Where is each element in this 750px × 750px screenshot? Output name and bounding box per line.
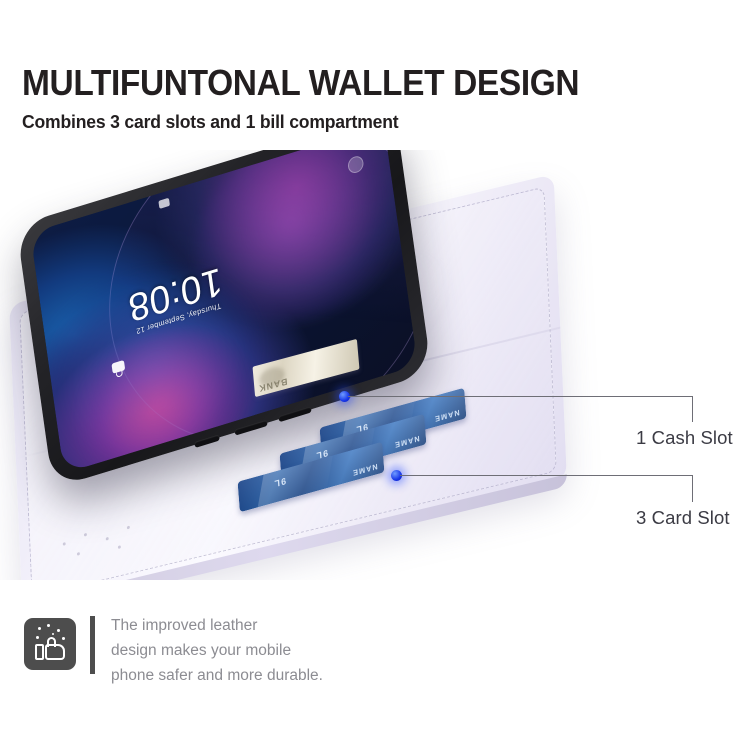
feature-line-1: The improved leather [111, 613, 323, 638]
feature-line-2: design makes your mobile [111, 638, 323, 663]
header: MULTIFUNTONAL WALLET DESIGN Combines 3 c… [22, 64, 722, 133]
feature-divider-bar [90, 616, 95, 674]
feature-line-3: phone safer and more durable. [111, 663, 323, 688]
card-slot-leader-horizontal [400, 475, 692, 476]
feature-block: The improved leather design makes your m… [24, 612, 323, 688]
product-infographic: MULTIFUNTONAL WALLET DESIGN Combines 3 c… [0, 0, 750, 750]
cash-slot-leader-vertical [692, 396, 693, 422]
page-title: MULTIFUNTONAL WALLET DESIGN [22, 64, 673, 102]
card-number: 9L [273, 476, 287, 490]
cash-slot-leader-horizontal [348, 396, 692, 397]
callout-label-cash-slot: 1 Cash Slot [636, 427, 733, 449]
card-slot-leader-vertical [692, 475, 693, 502]
thumbs-up-glyph [35, 639, 65, 660]
thumbs-up-icon [24, 618, 76, 670]
callout-label-card-slot: 3 Card Slot [636, 507, 730, 529]
page-subtitle: Combines 3 card slots and 1 bill compart… [22, 111, 687, 133]
feature-description: The improved leather design makes your m… [111, 612, 323, 688]
